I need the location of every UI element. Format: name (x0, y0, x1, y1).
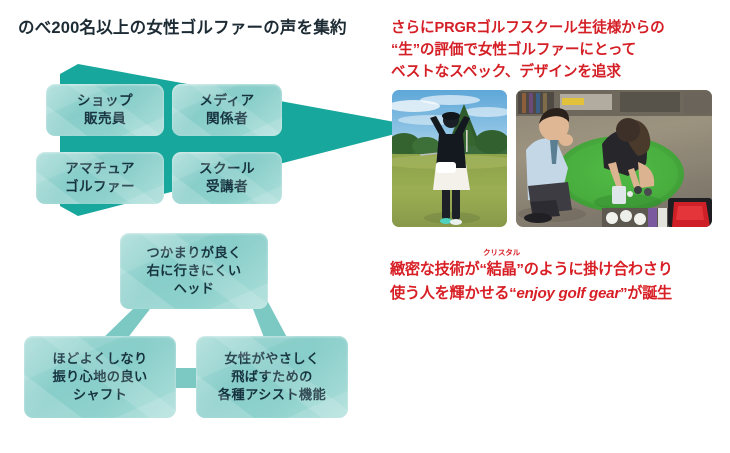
feature-box-head-label: つかまりが良く 右に行きにくい ヘッド (146, 244, 241, 297)
funnel-box-shop-label: ショップ 販売員 (77, 92, 133, 128)
funnel-box-media-label: メディア 関係者 (199, 92, 254, 128)
bottom-callout-line1-suffix: ”のように掛け合わさり (516, 261, 672, 278)
funnel-box-shop[interactable]: ショップ 販売員 (46, 84, 164, 136)
bottom-callout-line-1: 緻密な技術が“クリスタル結晶”のように掛け合わさり (390, 258, 728, 282)
bottom-callout-line2-prefix: 使う人を輝かせる“ (390, 285, 516, 302)
ruby-annotation-crystal: クリスタル (483, 247, 520, 259)
bottom-callout-line1-prefix: 緻密な技術が“ (390, 261, 487, 278)
ruby-group-kessho: クリスタル結晶 (487, 258, 517, 282)
feature-box-shaft-label: ほどよくしなり 振り心地の良い シャフト (52, 350, 147, 403)
feature-box-shaft[interactable]: ほどよくしなり 振り心地の良い シャフト (24, 336, 176, 418)
right-callout-line-3: ベストなスペック、デザインを追求 (391, 61, 721, 83)
bottom-callout-line-2: 使う人を輝かせる“enjoy golf gear”が誕生 (390, 282, 728, 306)
funnel-box-amateur-golfer-label: アマチュア ゴルファー (65, 160, 135, 196)
funnel-box-amateur-golfer[interactable]: アマチュア ゴルファー (36, 152, 164, 204)
funnel-box-media[interactable]: メディア 関係者 (172, 84, 282, 136)
photo-course-swing (392, 90, 507, 227)
right-callout-line-1: さらにPRGRゴルフスクール生徒様からの (391, 17, 721, 39)
page-title: のべ200名以上の女性ゴルファーの声を集約 (18, 14, 347, 38)
right-callout-text: さらにPRGRゴルフスクール生徒様からの “生”の評価で女性ゴルファーにとって … (391, 17, 721, 84)
photo-shop-fitting (516, 90, 712, 227)
bottom-callout-brand-phrase: enjoy golf gear (516, 285, 620, 302)
funnel-box-school-student-label: スクール 受講者 (199, 160, 255, 196)
feature-box-assist[interactable]: 女性がやさしく 飛ばすための 各種アシスト機能 (196, 336, 348, 418)
right-callout-line-2: “生”の評価で女性ゴルファーにとって (391, 39, 721, 61)
funnel-box-school-student[interactable]: スクール 受講者 (172, 152, 282, 204)
ruby-base-kessho: 結晶 (487, 261, 517, 278)
bottom-callout-line2-suffix: ”が誕生 (620, 285, 672, 302)
bottom-callout-text: 緻密な技術が“クリスタル結晶”のように掛け合わさり 使う人を輝かせる“enjoy… (390, 258, 728, 306)
slide-root: のべ200名以上の女性ゴルファーの声を集約 さらにPRGRゴルフスクール生徒様か… (0, 0, 730, 453)
feature-box-head[interactable]: つかまりが良く 右に行きにくい ヘッド (120, 233, 268, 309)
feature-box-assist-label: 女性がやさしく 飛ばすための 各種アシスト機能 (218, 350, 326, 403)
